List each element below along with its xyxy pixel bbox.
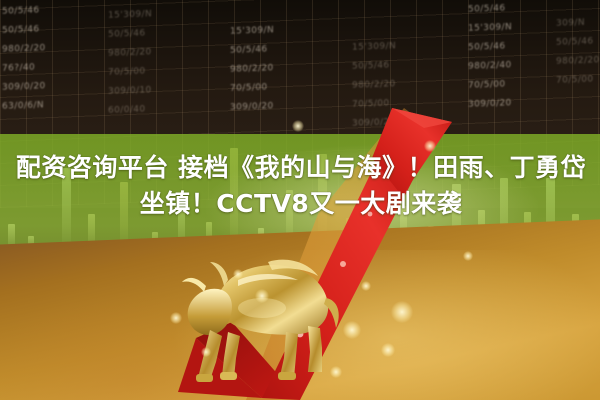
golden-floor	[0, 218, 600, 400]
finance-news-banner: 50/5/4650/5/46980/2/2076?/40309/0/2063/0…	[0, 0, 600, 400]
